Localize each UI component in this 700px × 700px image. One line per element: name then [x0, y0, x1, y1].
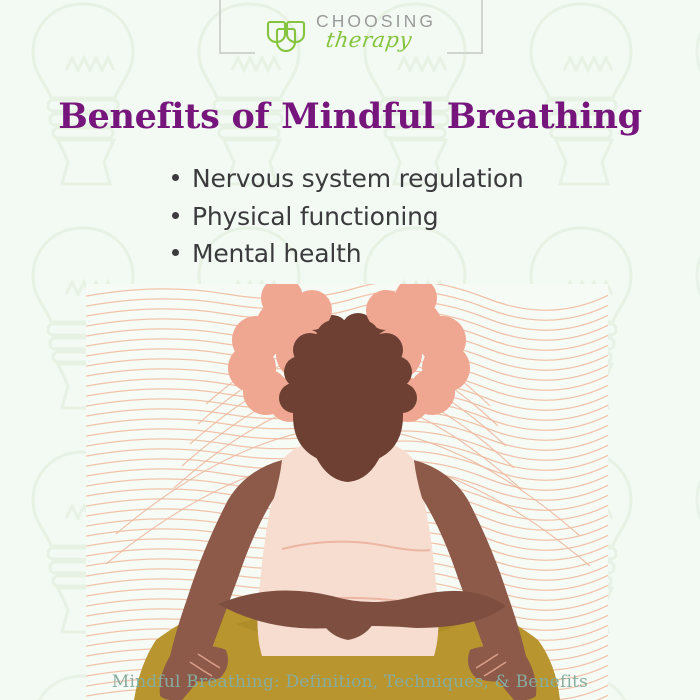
list-item-label: Physical functioning: [192, 198, 438, 236]
lotus-leaf-icon: [264, 12, 308, 52]
bullet-dot-icon: [172, 249, 179, 256]
page-title: Benefits of Mindful Breathing: [0, 96, 700, 137]
list-item: Physical functioning: [172, 198, 524, 236]
list-item-label: Nervous system regulation: [192, 160, 524, 198]
infographic-canvas: CHOOSING therapy Benefits of Mindful Bre…: [0, 0, 700, 700]
benefits-list: Nervous system regulation Physical funct…: [172, 160, 524, 273]
list-item: Mental health: [172, 235, 524, 273]
list-item-label: Mental health: [192, 235, 361, 273]
bullet-dot-icon: [172, 212, 179, 219]
brand-header: CHOOSING therapy: [0, 0, 700, 72]
meditation-illustration: [86, 284, 608, 700]
caption-text: Mindful Breathing: Definition, Technique…: [0, 672, 700, 692]
bullet-dot-icon: [172, 174, 179, 181]
logo[interactable]: CHOOSING therapy: [0, 12, 700, 52]
logo-wordmark-secondary: therapy: [324, 30, 437, 51]
list-item: Nervous system regulation: [172, 160, 524, 198]
